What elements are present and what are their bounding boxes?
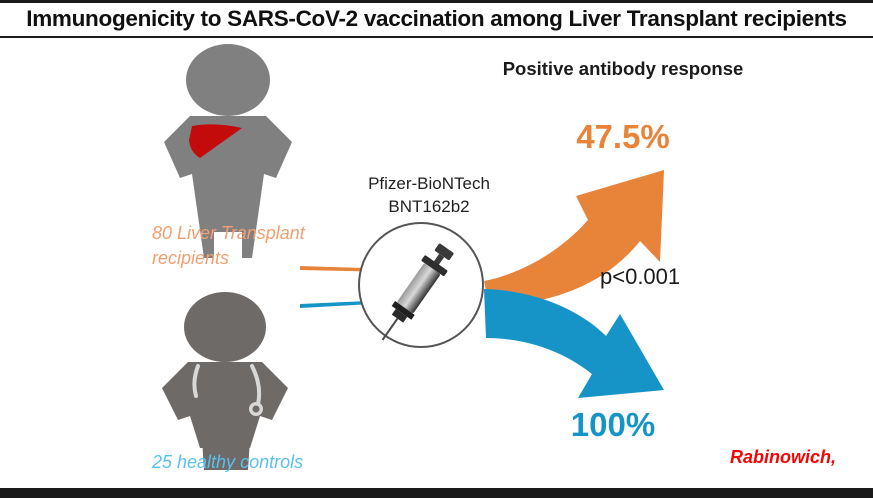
transplant-group-label: 80 Liver Transplant recipients	[152, 221, 367, 271]
bottom-divider	[0, 488, 873, 498]
infographic-slide: Immunogenicity to SARS-CoV-2 vaccination…	[0, 0, 873, 498]
blue-down-arrow	[484, 289, 664, 398]
antibody-response-heading: Positive antibody response	[498, 56, 748, 81]
control-group-label: 25 healthy controls	[152, 452, 382, 473]
citation-author: Rabinowich,	[693, 445, 873, 469]
transplant-response-value: 47.5%	[498, 118, 748, 156]
healthy-control-stethoscope-icon	[162, 292, 288, 470]
vaccine-circle	[359, 223, 483, 348]
citation-text: Rabinowich, J of Hepatol (in press) 2021	[693, 421, 873, 498]
vaccine-product-code: BNT162b2	[325, 195, 533, 218]
vaccine-manufacturer: Pfizer-BioNTech	[325, 172, 533, 195]
vaccine-name-label: Pfizer-BioNTech BNT162b2	[325, 172, 533, 218]
p-value-label: p<0.001	[600, 264, 680, 290]
